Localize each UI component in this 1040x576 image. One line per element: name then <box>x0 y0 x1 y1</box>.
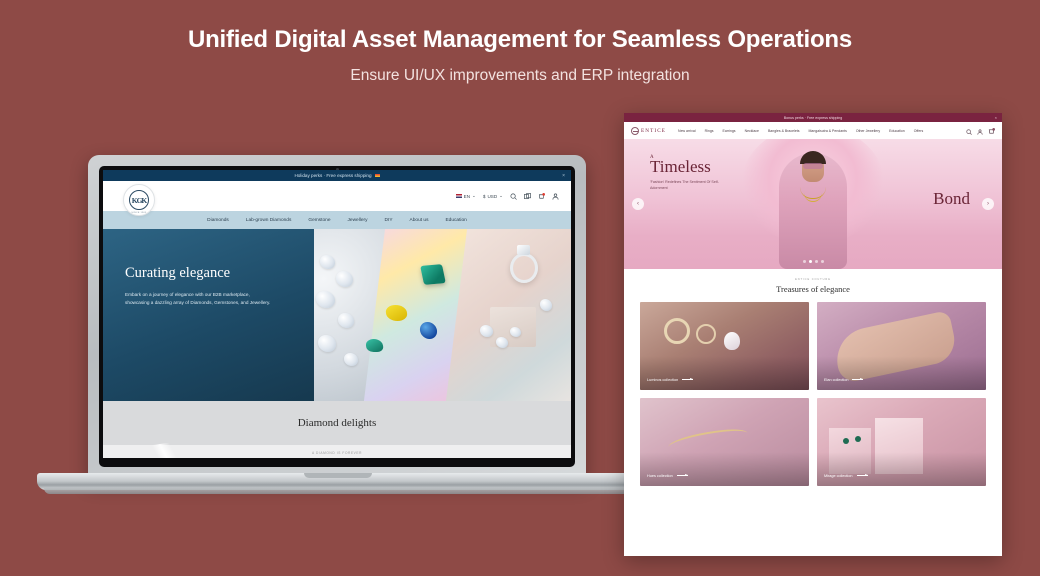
collection-card-elan[interactable]: Elan collection <box>817 302 986 390</box>
card-label: Luminos collection <box>647 378 693 382</box>
nav-item-jewellery[interactable]: Jewellery <box>348 218 368 223</box>
laptop-notch <box>304 473 372 478</box>
laptop-footer-overline: A DIAMOND IS FOREVER <box>103 451 571 455</box>
nav-item-lab-grown-diamonds[interactable]: Lab-grown Diamonds <box>246 218 292 223</box>
nav-item-other-jewellery[interactable]: Other Jewellery <box>856 129 880 133</box>
carousel-dots <box>624 260 1002 263</box>
page-header: Unified Digital Asset Management for Sea… <box>0 0 1040 85</box>
search-icon[interactable] <box>966 122 972 140</box>
laptop-logo-mark: KGK <box>129 190 149 210</box>
laptop-site-header: KGK SINCE 1905 EN ⌄ $ USD ⌄ <box>103 181 571 211</box>
ring-stone-prop <box>517 245 530 255</box>
us-flag-icon <box>456 194 462 198</box>
diamond-ring-prop <box>510 253 538 283</box>
panel-logo[interactable]: ENTICE <box>631 127 666 135</box>
chevron-down-icon: ⌄ <box>472 193 476 199</box>
carousel-dot[interactable] <box>821 260 824 263</box>
ring-prop <box>664 318 690 344</box>
panel-main-nav: New arrival Rings Earrings Necklace Bang… <box>678 129 923 133</box>
collection-card-mirage[interactable]: Mirage collection <box>817 398 986 486</box>
panel-section-header: ENTICE COUTURE Treasures of elegance <box>624 269 1002 294</box>
account-icon[interactable] <box>977 122 983 140</box>
nav-item-diy[interactable]: DIY <box>385 218 393 223</box>
bracelet-prop <box>667 425 749 455</box>
emerald-stud-prop <box>843 438 849 444</box>
panel-hero-banner: A Timeless 'Fashion' Redefines The Senti… <box>624 139 1002 269</box>
carousel-dot-active[interactable] <box>809 260 812 263</box>
card-label-text: Luminos collection <box>647 378 678 382</box>
entice-logo-icon <box>631 127 639 135</box>
carousel-prev-button[interactable]: ‹ <box>632 198 644 210</box>
laptop-bezel: Holiday perks · Free express shipping × … <box>99 166 575 467</box>
green-gem <box>365 339 384 352</box>
emerald-stud-prop <box>855 436 861 442</box>
currency-selector[interactable]: $ USD ⌄ <box>483 193 503 199</box>
nav-item-diamonds[interactable]: Diamonds <box>207 218 229 223</box>
panel-hero-subtitle: 'Fashion' Redefines The Sentiment Of Sel… <box>650 180 730 192</box>
ring-prop <box>696 324 716 344</box>
collection-card-grid: Luminos collection Elan collection Hues … <box>624 294 1002 486</box>
account-icon[interactable] <box>552 193 559 200</box>
arrow-right-icon <box>852 379 863 380</box>
panel-hero-headline: Timeless <box>650 158 730 175</box>
nav-item-offers[interactable]: Offers <box>914 129 923 133</box>
laptop-main-nav: Diamonds Lab-grown Diamonds Gemstone Jew… <box>103 211 571 229</box>
nav-item-bangles-bracelets[interactable]: Bangles & Bracelets <box>768 129 800 133</box>
laptop-mockup: Holiday perks · Free express shipping × … <box>88 155 588 505</box>
collection-card-luminos[interactable]: Luminos collection <box>640 302 809 390</box>
laptop-utility-bar: EN ⌄ $ USD ⌄ <box>456 193 559 200</box>
laptop-screen: Holiday perks · Free express shipping × … <box>103 170 571 458</box>
laptop-hero-copy: Curating elegance Embark on a journey of… <box>103 229 314 401</box>
panel-site-header: ENTICE New arrival Rings Earrings Neckla… <box>624 122 1002 139</box>
laptop-promo-text: Holiday perks · Free express shipping <box>294 173 371 178</box>
chevron-down-icon: ⌄ <box>499 193 503 199</box>
panel-promo-close-icon[interactable]: × <box>995 115 997 120</box>
language-label: EN <box>464 194 470 199</box>
arrow-right-icon <box>682 379 693 380</box>
laptop-logo[interactable]: KGK SINCE 1905 <box>123 184 155 216</box>
promo-flag-icon <box>375 174 380 178</box>
search-icon[interactable] <box>510 193 517 200</box>
nav-item-rings[interactable]: Rings <box>705 129 714 133</box>
emerald-gem <box>420 264 446 285</box>
cart-icon[interactable] <box>988 122 995 140</box>
laptop-logo-tagline: SINCE 1905 <box>124 212 154 214</box>
card-label: Hues collection <box>647 474 688 478</box>
arrow-right-icon <box>677 475 688 476</box>
panel-section-overline: ENTICE COUTURE <box>640 278 986 281</box>
promo-close-icon[interactable]: × <box>562 173 565 179</box>
card-label-text: Elan collection <box>824 378 848 382</box>
panel-promo-bar: Bonus perks · Free express shipping × <box>624 113 1002 122</box>
laptop-hero-image <box>314 229 571 401</box>
nav-item-mangalsutra-pendants[interactable]: Mangalsutra & Pendants <box>809 129 847 133</box>
panel-hero-copy: A Timeless 'Fashion' Redefines The Senti… <box>650 155 730 192</box>
card-label-text: Mirage collection <box>824 474 853 478</box>
laptop-hero-body: Embark on a journey of elegance with our… <box>125 291 275 307</box>
laptop-base-edge <box>44 488 631 494</box>
currency-symbol: $ <box>483 194 486 199</box>
card-label-text: Hues collection <box>647 474 673 478</box>
laptop-footer-band: A DIAMOND IS FOREVER Brilliance and spar… <box>103 445 571 458</box>
laptop-promo-bar: Holiday perks · Free express shipping × <box>103 170 571 181</box>
compare-icon[interactable] <box>524 193 531 200</box>
page-subtitle: Ensure UI/UX improvements and ERP integr… <box>0 67 1040 85</box>
carousel-dot[interactable] <box>815 260 818 263</box>
arrow-right-icon <box>857 475 868 476</box>
panel-promo-text: Bonus perks · Free express shipping <box>784 116 843 120</box>
browser-panel: Bonus perks · Free express shipping × EN… <box>624 113 1002 556</box>
panel-hero-headline-right: Bond <box>933 189 970 209</box>
laptop-hero-banner: Curating elegance Embark on a journey of… <box>103 229 571 401</box>
nav-item-gemstone[interactable]: Gemstone <box>308 218 330 223</box>
carousel-next-button[interactable]: › <box>982 198 994 210</box>
card-label: Mirage collection <box>824 474 868 478</box>
carousel-dot[interactable] <box>803 260 806 263</box>
language-selector[interactable]: EN ⌄ <box>456 193 476 199</box>
card-overlay <box>640 356 809 390</box>
nav-item-earrings[interactable]: Earrings <box>723 129 736 133</box>
nav-item-education[interactable]: Education <box>445 218 466 223</box>
card-overlay <box>817 452 986 486</box>
sunglasses-icon <box>803 163 823 169</box>
nav-item-education[interactable]: Education <box>889 129 905 133</box>
cart-icon[interactable] <box>538 193 545 200</box>
laptop-section-heading: Diamond delights <box>103 401 571 445</box>
laptop-hero-heading: Curating elegance <box>125 265 298 282</box>
nav-item-new-arrival[interactable]: New arrival <box>678 129 696 133</box>
card-overlay <box>817 356 986 390</box>
card-overlay <box>640 452 809 486</box>
panel-header-icons <box>966 122 995 140</box>
card-label: Elan collection <box>824 378 863 382</box>
panel-section-heading: Treasures of elegance <box>640 284 986 294</box>
pendant-prop <box>724 332 740 350</box>
nav-item-about-us[interactable]: About us <box>410 218 429 223</box>
panel-logo-text: ENTICE <box>641 128 666 134</box>
nav-item-necklace[interactable]: Necklace <box>745 129 759 133</box>
collection-card-hues[interactable]: Hues collection <box>640 398 809 486</box>
currency-label: USD <box>487 194 497 199</box>
page-title: Unified Digital Asset Management for Sea… <box>0 26 1040 54</box>
laptop-lid: Holiday perks · Free express shipping × … <box>88 155 586 480</box>
